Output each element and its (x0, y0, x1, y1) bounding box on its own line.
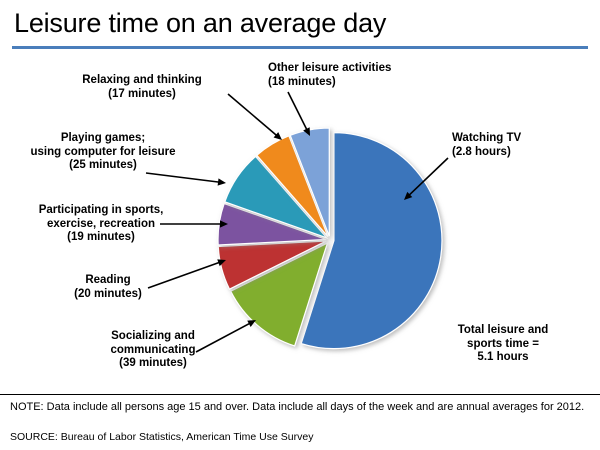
page-title: Leisure time on an average day (14, 8, 386, 39)
label-watching-tv: Watching TV (2.8 hours) (452, 132, 592, 159)
arrow-relaxing (228, 94, 277, 135)
slide-canvas: Leisure time on an average day Relaxing … (0, 0, 600, 450)
label-relaxing-and-thinking: Relaxing and thinking (17 minutes) (62, 74, 222, 101)
label-total-leisure-time: Total leisure and sports time = 5.1 hour… (428, 324, 578, 365)
footnote-divider (0, 394, 600, 395)
label-playing-games: Playing games; using computer for leisur… (8, 132, 198, 173)
pie-slice-group (218, 128, 442, 349)
arrow-games (146, 173, 219, 182)
pie-chart: Relaxing and thinking (17 minutes) Other… (0, 52, 600, 392)
arrow-other (288, 92, 307, 130)
arrow-games-head (218, 178, 226, 185)
title-underline-rule (12, 46, 588, 49)
footnote-note: NOTE: Data include all persons age 15 an… (10, 400, 590, 414)
label-reading: Reading (20 minutes) (28, 274, 188, 301)
footnote-source: SOURCE: Bureau of Labor Statistics, Amer… (10, 430, 590, 444)
label-participating-in-sports: Participating in sports, exercise, recre… (6, 204, 196, 245)
label-other-leisure-activities: Other leisure activities (18 minutes) (268, 62, 418, 89)
label-socializing-and-communicating: Socializing and communicating (39 minute… (78, 330, 228, 371)
